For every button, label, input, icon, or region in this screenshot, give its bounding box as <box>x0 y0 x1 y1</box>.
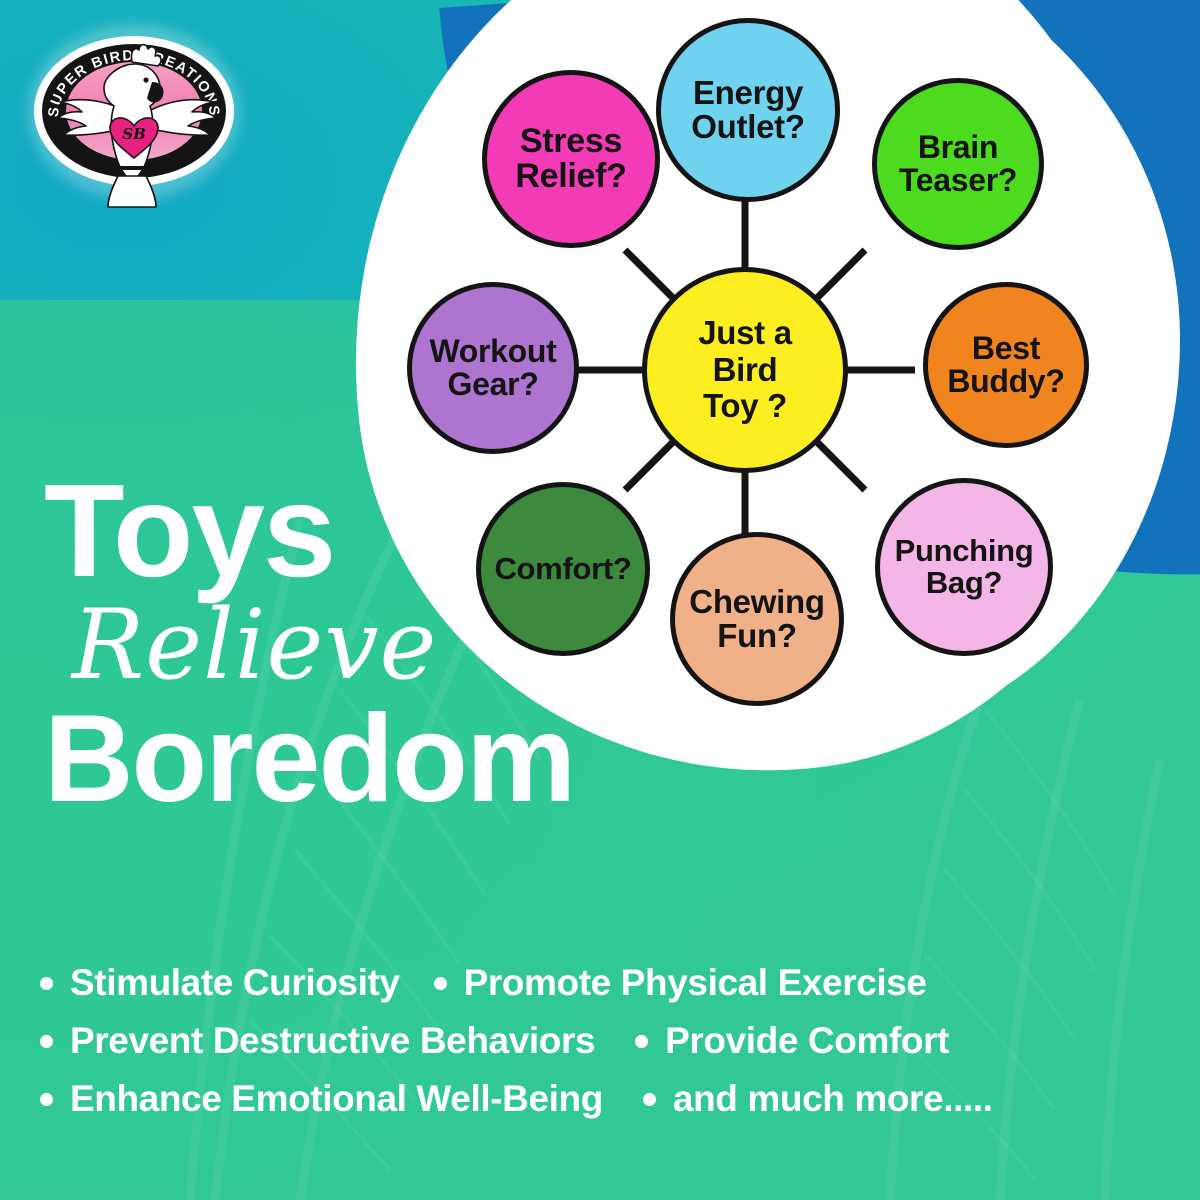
node-punching-bag-line-1: Punching <box>895 535 1034 567</box>
benefits-row-1: Stimulate Curiosity Promote Physical Exe… <box>40 962 1170 1004</box>
node-brain-teaser-line-1: Brain <box>899 131 1017 164</box>
benefits-list: Stimulate Curiosity Promote Physical Exe… <box>40 962 1170 1136</box>
node-stress-relief-line-2: Relief? <box>515 159 626 194</box>
headline-line-relieve: Relieve <box>72 597 744 693</box>
cockatoo-icon: SB <box>42 40 228 208</box>
benefit-promote-physical-exercise: Promote Physical Exercise <box>434 962 927 1004</box>
benefit-prevent-destructive-behaviors: Prevent Destructive Behaviors <box>40 1020 595 1062</box>
benefit-label: Provide Comfort <box>665 1020 949 1062</box>
benefit-label: Enhance Emotional Well-Being <box>70 1078 603 1120</box>
node-best-buddy-line-2: Buddy? <box>947 365 1064 398</box>
benefit-enhance-emotional-well-being: Enhance Emotional Well-Being <box>40 1078 603 1120</box>
node-punching-bag-line-2: Bag? <box>895 567 1034 599</box>
benefit-provide-comfort: Provide Comfort <box>635 1020 949 1062</box>
mindmap-node-center[interactable]: Just a Bird Toy ? <box>642 267 848 473</box>
bullet-dot-icon <box>635 1035 648 1048</box>
node-best-buddy-line-1: Best <box>947 332 1064 365</box>
brand-logo: SUPER BIRD CREATIONS SB <box>28 24 240 200</box>
headline-line-toys: Toys <box>44 470 744 591</box>
bullet-dot-icon <box>40 1093 53 1106</box>
benefit-label: Prevent Destructive Behaviors <box>70 1020 595 1062</box>
mindmap-node-brain-teaser[interactable]: Brain Teaser? <box>872 78 1044 250</box>
logo-monogram: SB <box>122 125 146 143</box>
node-brain-teaser-line-2: Teaser? <box>899 164 1017 197</box>
bullet-dot-icon <box>643 1093 656 1106</box>
benefit-and-much-more: and much more..... <box>643 1078 993 1120</box>
node-workout-gear-line-2: Gear? <box>429 368 556 401</box>
node-energy-outlet-line-2: Outlet? <box>691 110 804 144</box>
mindmap-node-punching-bag[interactable]: Punching Bag? <box>875 478 1053 656</box>
node-energy-outlet-line-1: Energy <box>691 76 804 110</box>
benefits-row-2: Prevent Destructive Behaviors Provide Co… <box>40 1020 1170 1062</box>
center-line-3: Toy ? <box>698 388 792 425</box>
headline-block: Toys Relieve Boredom <box>44 470 744 821</box>
bullet-dot-icon <box>40 977 53 990</box>
benefit-stimulate-curiosity: Stimulate Curiosity <box>40 962 400 1004</box>
node-workout-gear-line-1: Workout <box>429 335 556 368</box>
mindmap-node-workout-gear[interactable]: Workout Gear? <box>407 282 579 454</box>
benefits-row-3: Enhance Emotional Well-Being and much mo… <box>40 1078 1170 1120</box>
headline-line-boredom: Boredom <box>44 697 744 821</box>
bullet-dot-icon <box>40 1035 53 1048</box>
bullet-dot-icon <box>434 977 447 990</box>
benefit-label: and much more..... <box>673 1078 993 1120</box>
mindmap-node-best-buddy[interactable]: Best Buddy? <box>923 282 1089 448</box>
benefit-label: Stimulate Curiosity <box>70 962 400 1004</box>
node-stress-relief-line-1: Stress <box>515 124 626 159</box>
center-line-1: Just a <box>698 315 792 352</box>
mindmap-node-stress-relief[interactable]: Stress Relief? <box>482 70 660 248</box>
poster-canvas: SUPER BIRD CREATIONS SB <box>0 0 1200 1200</box>
benefit-label: Promote Physical Exercise <box>464 962 927 1004</box>
mindmap-node-energy-outlet[interactable]: Energy Outlet? <box>656 18 840 202</box>
center-line-2: Bird <box>698 352 792 389</box>
